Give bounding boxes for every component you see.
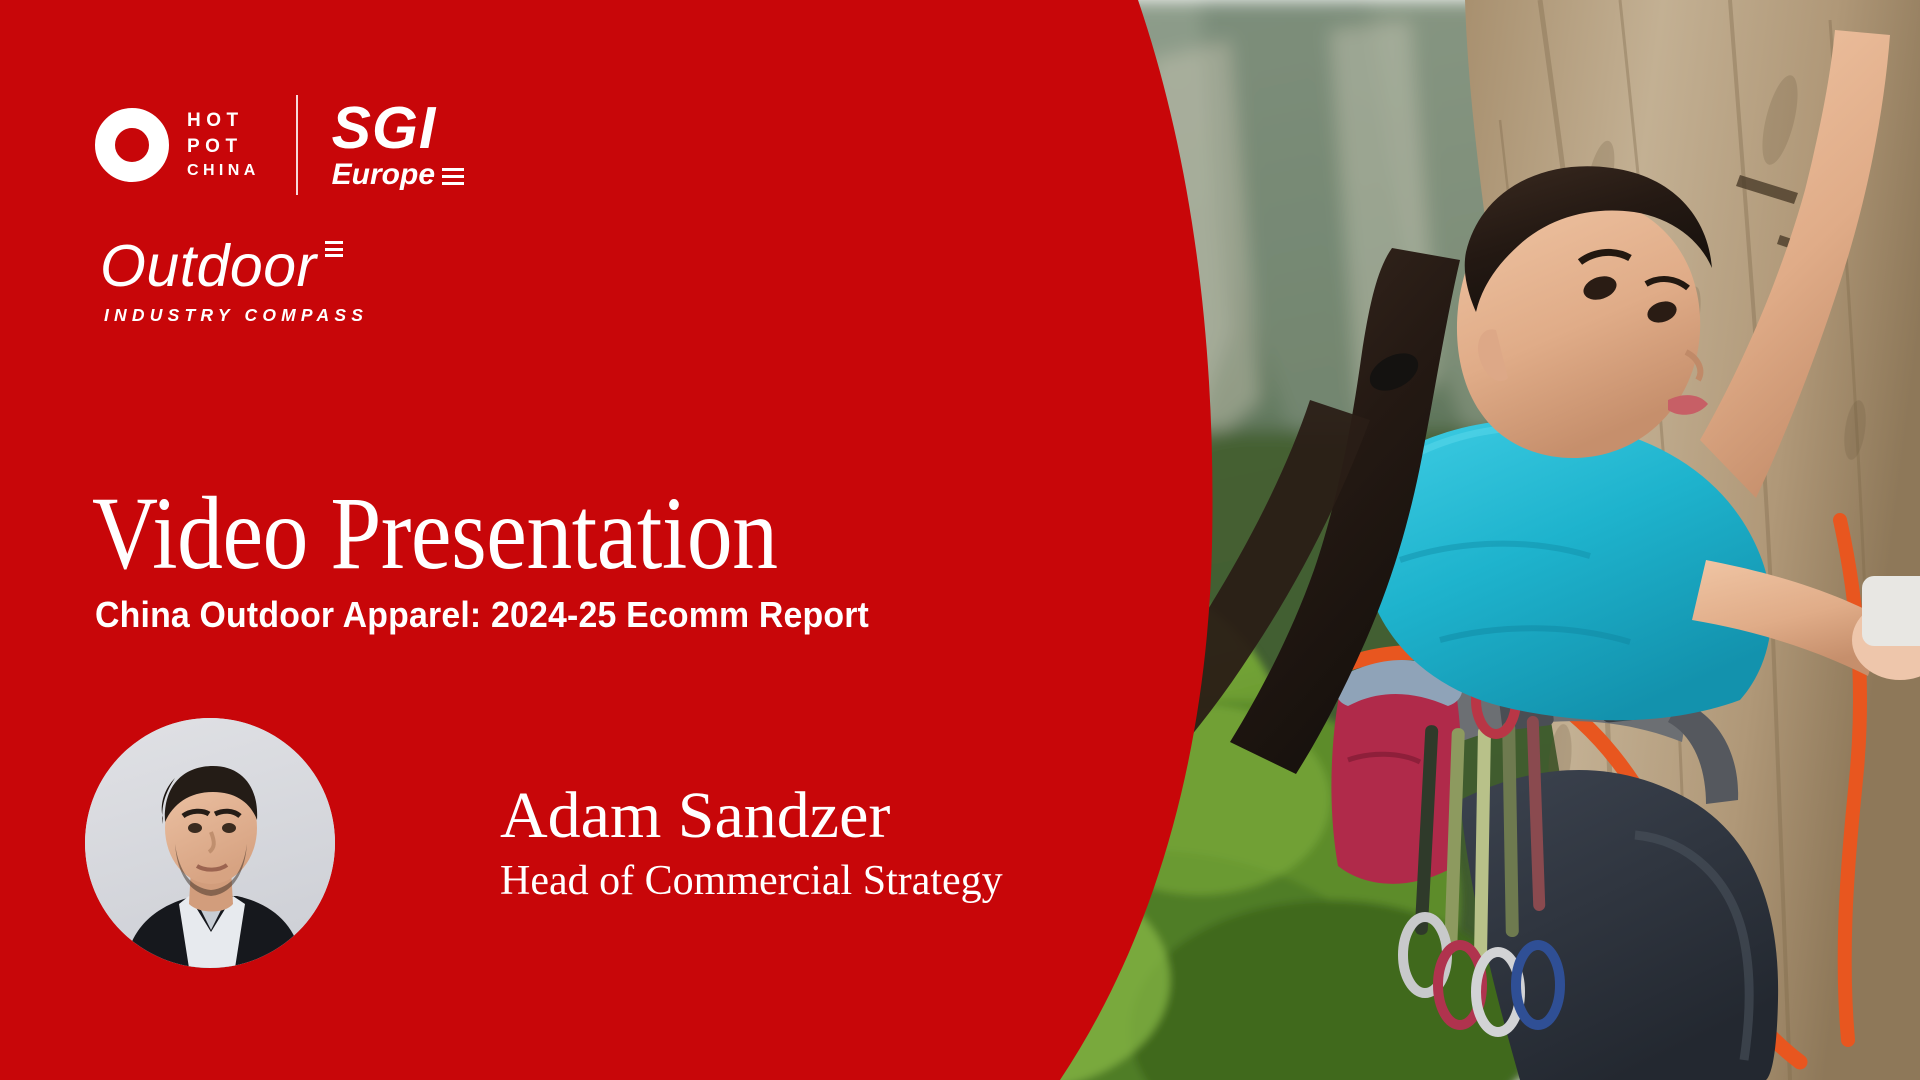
- outdoor-industry-compass-logo: Outdoor INDUSTRY COMPASS: [100, 237, 368, 325]
- presenter-block: Adam Sandzer Head of Commercial Strategy: [85, 718, 1003, 968]
- page-title: Video Presentation: [92, 482, 778, 586]
- presenter-name: Adam Sandzer: [500, 780, 1003, 851]
- brand-logo-lockup: HOT POT CHINA SGI Europe: [95, 95, 464, 195]
- page-subtitle: China Outdoor Apparel: 2024-25 Ecomm Rep…: [95, 597, 869, 633]
- hotpot-wordmark: HOT POT CHINA: [187, 111, 260, 179]
- title-slide: HOT POT CHINA SGI Europe Outdoor: [0, 0, 1920, 1080]
- industry-compass-label: INDUSTRY COMPASS: [104, 307, 368, 325]
- outdoor-wordmark: Outdoor: [100, 237, 317, 296]
- logo-divider: [296, 95, 298, 195]
- hotpot-china-logo: HOT POT CHINA: [95, 108, 260, 182]
- hotpot-line-2: POT: [187, 137, 260, 156]
- hotpot-line-1: HOT: [187, 111, 260, 130]
- avatar: [85, 718, 335, 968]
- hotpot-line-3: CHINA: [187, 163, 260, 179]
- presenter-role: Head of Commercial Strategy: [500, 857, 1003, 905]
- three-bars-icon: [325, 241, 343, 257]
- sgi-europe-logo: SGI Europe: [332, 100, 464, 190]
- sgi-europe-label: Europe: [332, 160, 435, 190]
- sgi-wordmark: SGI: [332, 100, 464, 156]
- three-bars-icon: [442, 168, 464, 185]
- hotpot-ring-icon: [95, 108, 169, 182]
- slide-content: HOT POT CHINA SGI Europe Outdoor: [0, 0, 1250, 1080]
